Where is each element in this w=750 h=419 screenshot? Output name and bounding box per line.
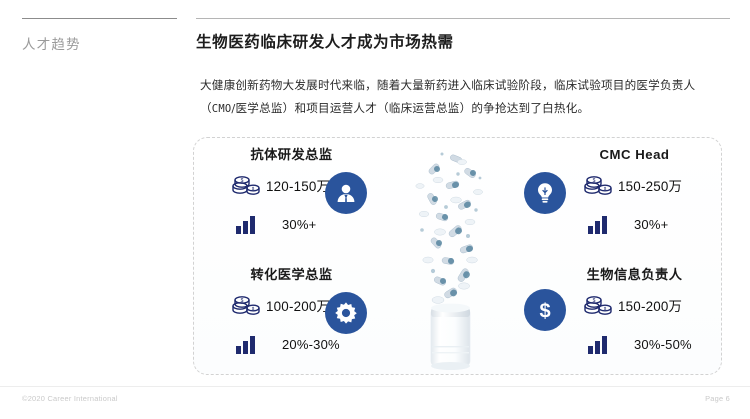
role-salary: 150-250万 — [618, 175, 682, 195]
svg-text:$: $ — [539, 300, 550, 322]
role-salary: 150-200万 — [618, 295, 682, 315]
body-text-part2: /医学总监）和项目运营人才（临床运营总监）的争抢达到了白热化。 — [231, 101, 589, 115]
svg-text:$: $ — [593, 178, 596, 184]
page-title: 生物医药临床研发人才成为市场热需 — [196, 30, 730, 52]
role-heading: CMC Head — [512, 146, 717, 164]
coins-icon: $ $ — [584, 291, 618, 319]
bar-chart-icon — [584, 331, 621, 359]
gear-icon — [325, 292, 367, 334]
footer-divider — [0, 386, 750, 387]
body-text-mono: CMO — [212, 103, 232, 115]
svg-text:$: $ — [241, 298, 244, 304]
role-growth: 20%-30% — [269, 337, 340, 352]
role-growth-row: 20%-30% — [206, 328, 411, 361]
bar-chart-icon — [232, 211, 269, 239]
role-heading: 转化医学总监 — [206, 266, 411, 284]
role-growth-row: 30%-50% — [512, 328, 717, 361]
title-divider — [196, 18, 730, 19]
coins-icon: $ $ — [232, 291, 266, 319]
coins-icon: $ $ — [232, 171, 266, 199]
section-rail: 人才趋势 — [22, 18, 177, 53]
role-heading: 生物信息负责人 — [512, 266, 717, 284]
role-salary: 120-150万 — [266, 175, 330, 195]
bar-chart-icon — [584, 211, 621, 239]
role-salary-row: $ $ 120-150万 — [206, 168, 411, 201]
body-paragraph: 大健康创新药物大发展时代来临，随着大量新药进入临床试验阶段，临床试验项目的医学负… — [200, 74, 725, 119]
footer-page-number: Page 6 — [705, 394, 730, 403]
role-growth-row: 30%+ — [206, 208, 411, 241]
coins-icon: $ $ — [584, 171, 618, 199]
bar-chart-icon — [232, 331, 269, 359]
svg-text:$: $ — [593, 298, 596, 304]
role-heading: 抗体研发总监 — [206, 146, 411, 164]
lightbulb-icon — [524, 172, 566, 214]
section-label: 人才趋势 — [22, 33, 177, 53]
role-salary-row: $ $ 100-200万 — [206, 288, 411, 321]
person-icon — [325, 172, 367, 214]
role-card-translational-medicine-director: 转化医学总监 $ $ 100-200万 — [206, 266, 411, 366]
dollar-icon: $ — [524, 289, 566, 331]
section-divider — [22, 18, 177, 19]
role-growth: 30%+ — [621, 217, 668, 232]
footer-copyright: ©2020 Career International — [22, 394, 118, 403]
role-growth: 30%-50% — [621, 337, 692, 352]
role-growth: 30%+ — [269, 217, 316, 232]
role-salary: 100-200万 — [266, 295, 330, 315]
svg-text:$: $ — [241, 178, 244, 184]
role-card-antibody-rd-director: 抗体研发总监 $ $ 120-150万 — [206, 146, 411, 246]
slide-header: 生物医药临床研发人才成为市场热需 — [196, 18, 730, 52]
